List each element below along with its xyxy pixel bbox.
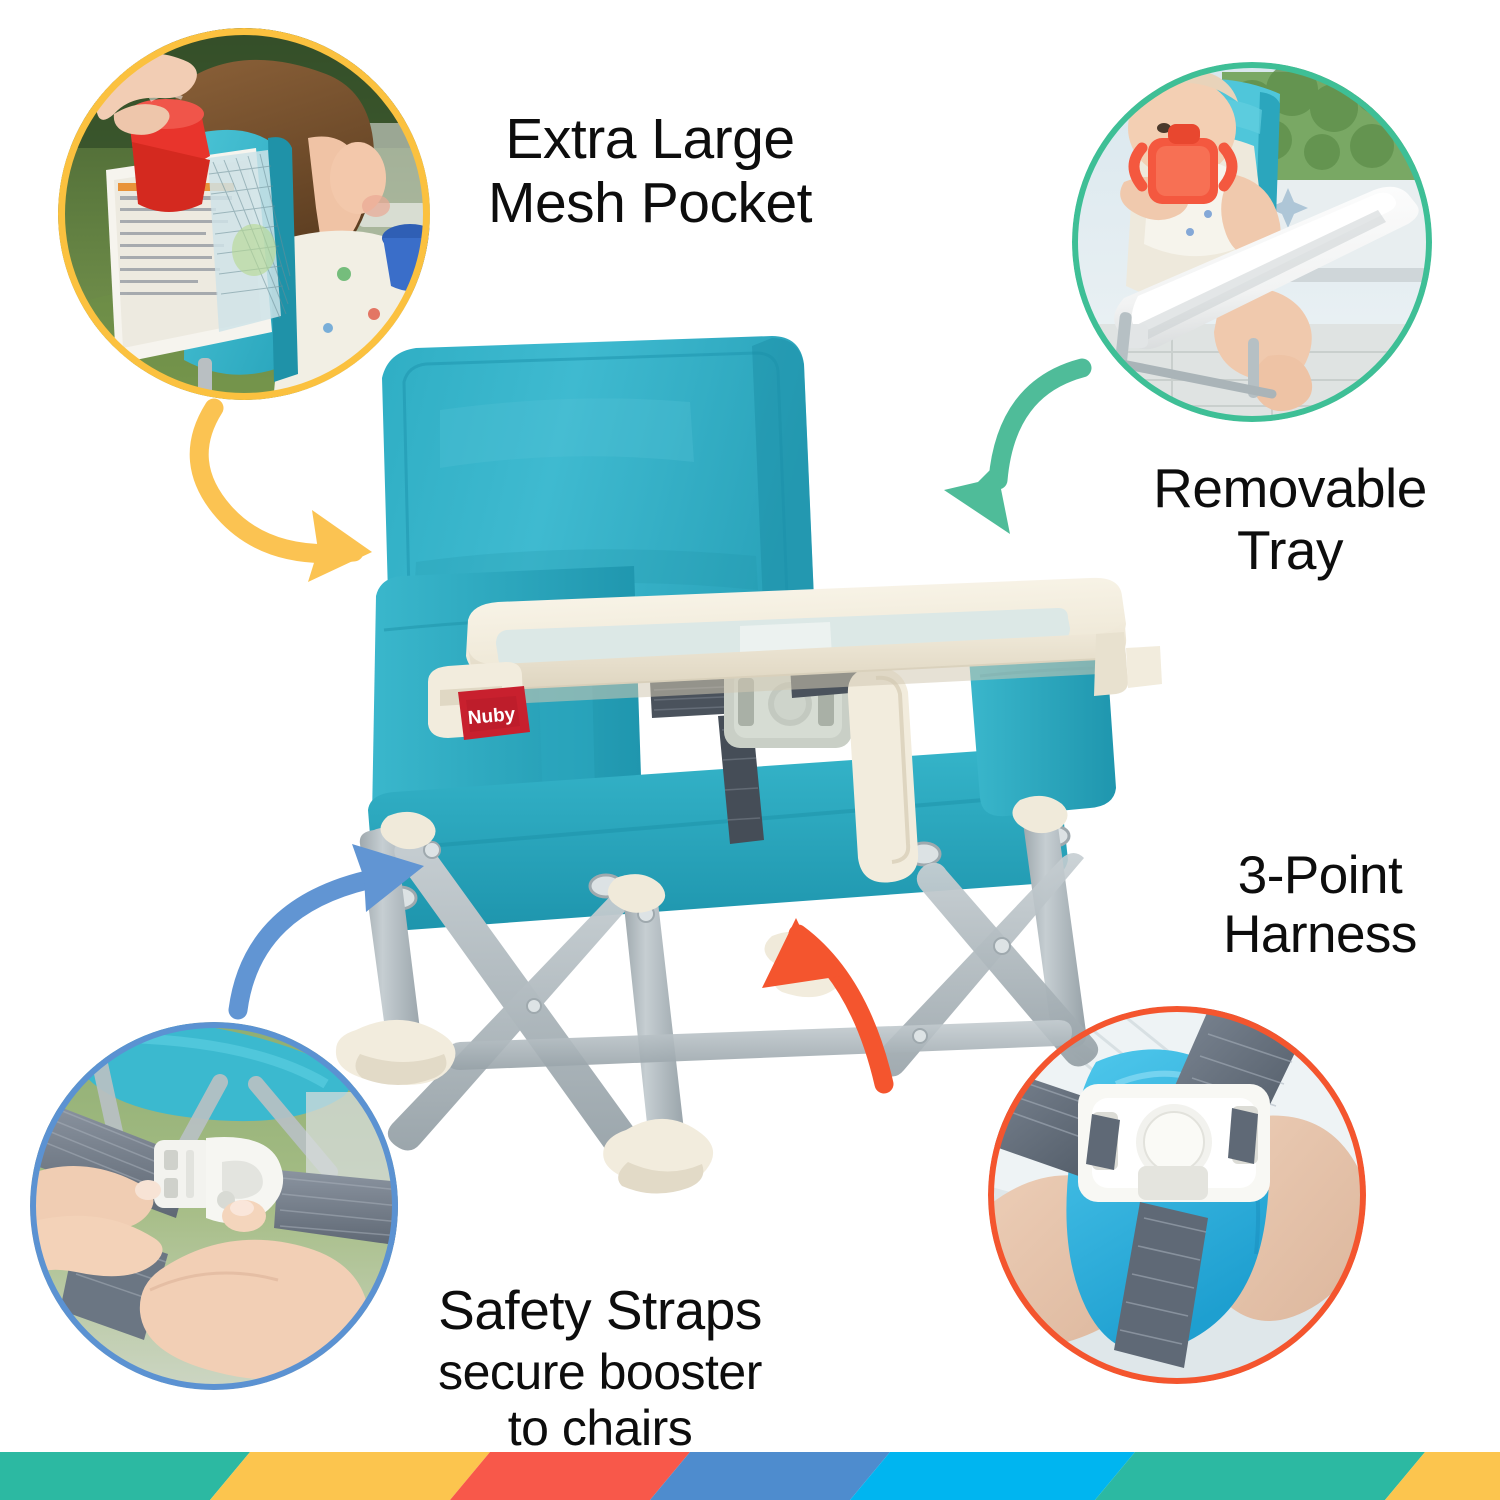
- color-bar-segment-yellow: [210, 1452, 490, 1500]
- bottom-color-bar: [0, 1452, 1500, 1500]
- label-removable-tray: Removable Tray: [1090, 458, 1490, 581]
- arrow-three-point-harness: [750, 860, 970, 1090]
- brand-tag-label: Nuby: [467, 704, 517, 729]
- label-safety-straps-secondary: secure booster to chairs: [330, 1344, 870, 1456]
- arrow-mesh-pocket: [180, 398, 410, 578]
- label-safety-straps-group: Safety Straps secure booster to chairs: [330, 1280, 870, 1456]
- label-three-point-harness: 3-Point Harness: [1130, 846, 1500, 965]
- bottom-color-bar-segments: [0, 1452, 1500, 1500]
- infographic-canvas: Nuby: [0, 0, 1500, 1500]
- color-bar-segment-teal: [1095, 1452, 1425, 1500]
- color-bar-segment-red: [450, 1452, 690, 1500]
- color-bar-segment-blue: [650, 1452, 890, 1500]
- brand-tag: Nuby: [458, 686, 530, 740]
- crotch-post: [848, 668, 918, 883]
- label-mesh-pocket: Extra Large Mesh Pocket: [420, 108, 880, 236]
- color-bar-segment-teal: [0, 1452, 250, 1500]
- arrow-removable-tray: [900, 360, 1110, 550]
- color-bar-segment-cyan: [850, 1452, 1135, 1500]
- label-safety-straps-primary: Safety Straps: [330, 1280, 870, 1342]
- arrow-safety-straps: [230, 830, 440, 1030]
